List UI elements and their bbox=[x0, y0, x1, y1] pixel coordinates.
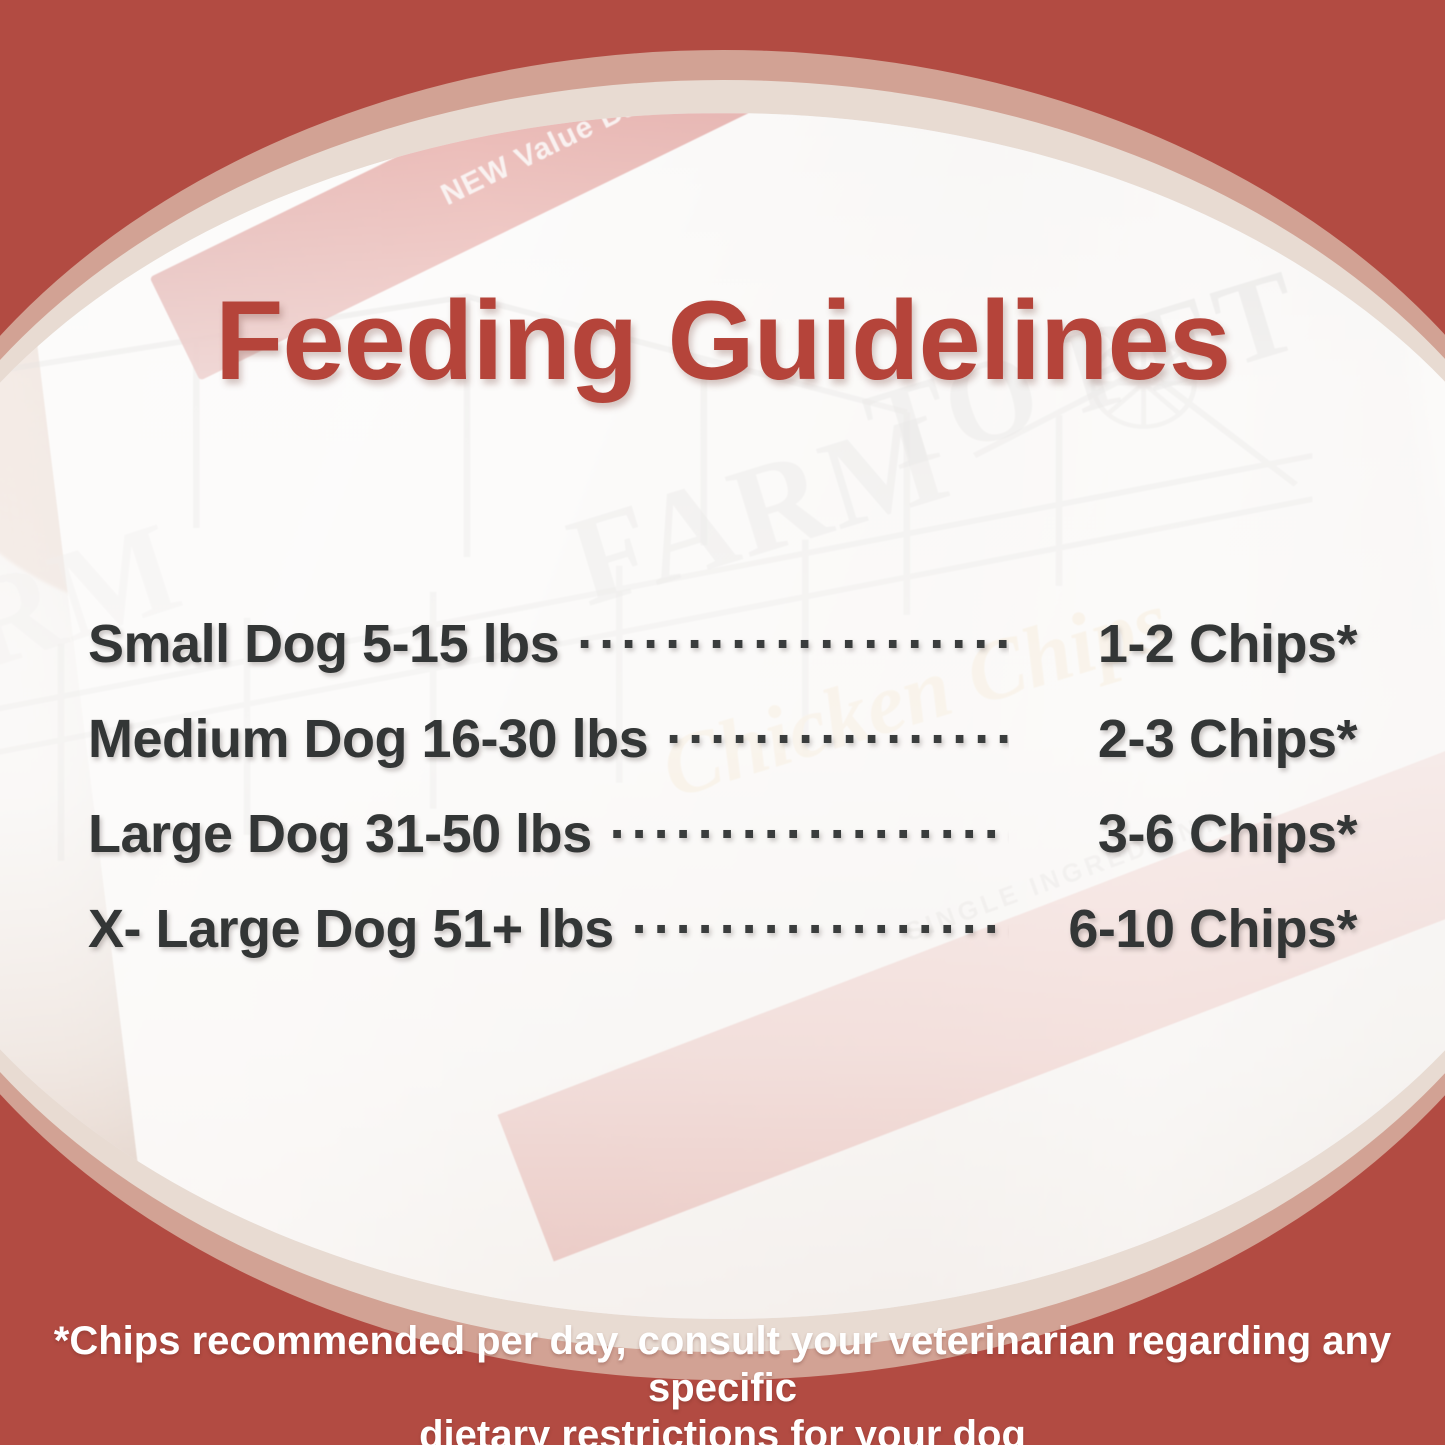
row-value: 1-2 Chips* bbox=[1027, 613, 1357, 675]
table-row: Medium Dog 16-30 lbs 2-3 Chips* bbox=[88, 703, 1357, 798]
row-value: 6-10 Chips* bbox=[1027, 898, 1357, 960]
row-value: 3-6 Chips* bbox=[1027, 803, 1357, 865]
feeding-guidelines-table: Small Dog 5-15 lbs 1-2 Chips* Medium Dog… bbox=[88, 608, 1357, 988]
dot-leader-icon bbox=[610, 798, 1009, 852]
footnote-line-2: dietary restrictions for your dog bbox=[40, 1412, 1405, 1445]
page-title: Feeding Guidelines bbox=[0, 285, 1445, 397]
row-value: 2-3 Chips* bbox=[1027, 708, 1357, 770]
table-row: Large Dog 31-50 lbs 3-6 Chips* bbox=[88, 798, 1357, 893]
footnote-line-1: *Chips recommended per day, consult your… bbox=[40, 1318, 1405, 1412]
dot-leader-icon bbox=[632, 893, 1009, 947]
poster-content: Feeding Guidelines Small Dog 5-15 lbs 1-… bbox=[0, 0, 1445, 1445]
row-label: Small Dog 5-15 lbs bbox=[88, 613, 559, 675]
poster-canvas: FARM FARM TO PET Chicken Chips SINGLE IN… bbox=[0, 0, 1445, 1445]
row-label: X- Large Dog 51+ lbs bbox=[88, 898, 614, 960]
row-label: Large Dog 31-50 lbs bbox=[88, 803, 592, 865]
footnote: *Chips recommended per day, consult your… bbox=[0, 1318, 1445, 1445]
dot-leader-icon bbox=[666, 703, 1009, 757]
dot-leader-icon bbox=[577, 608, 1009, 662]
row-label: Medium Dog 16-30 lbs bbox=[88, 708, 648, 770]
table-row: X- Large Dog 51+ lbs 6-10 Chips* bbox=[88, 893, 1357, 988]
table-row: Small Dog 5-15 lbs 1-2 Chips* bbox=[88, 608, 1357, 703]
